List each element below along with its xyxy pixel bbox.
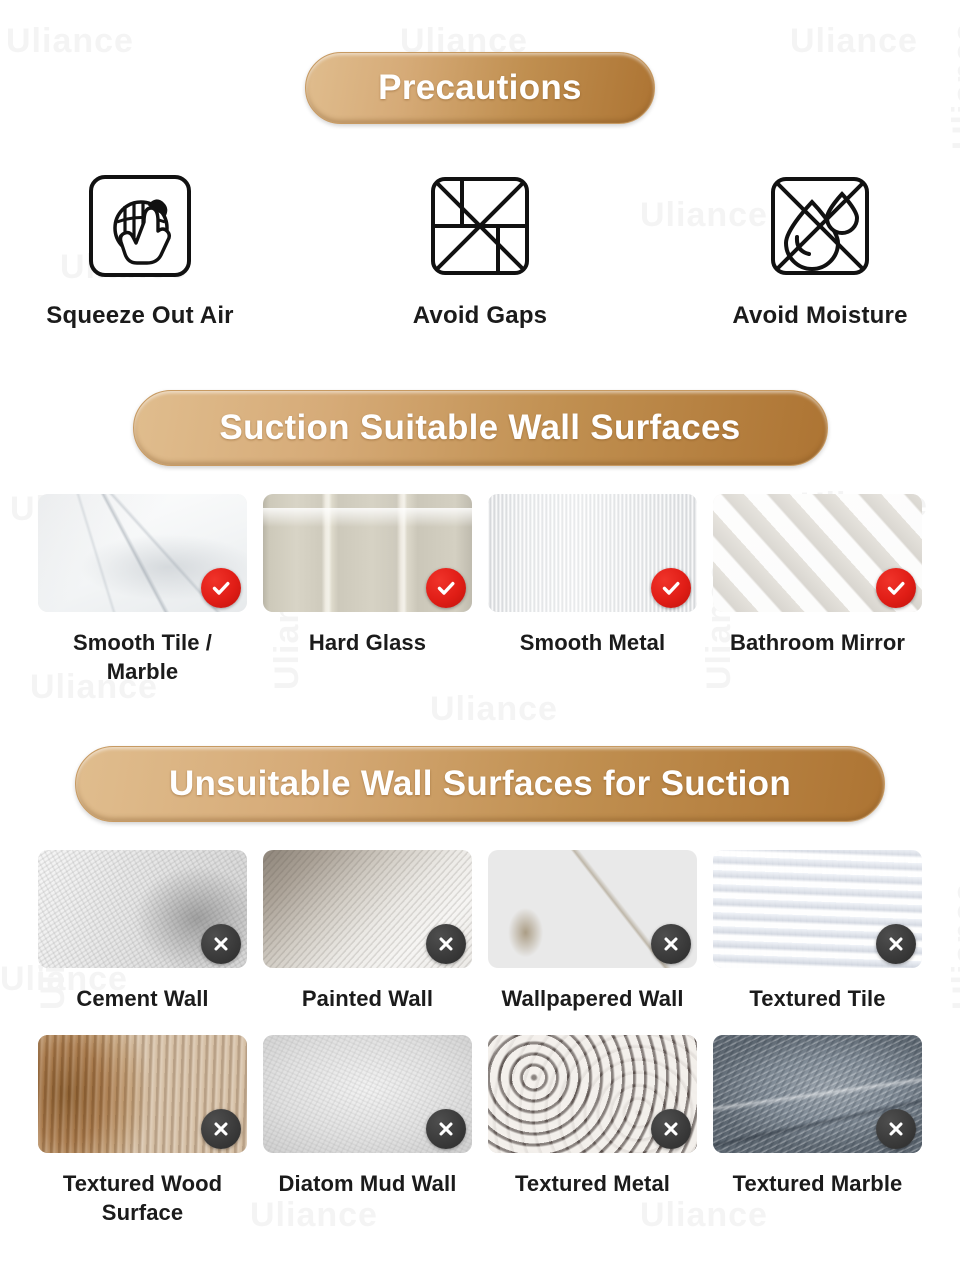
surface-thumbnail — [38, 850, 247, 968]
surface-label: Painted Wall — [302, 984, 433, 1013]
surface-thumbnail — [263, 850, 472, 968]
x-circle-icon — [426, 1109, 466, 1149]
precaution-label: Avoid Gaps — [413, 302, 547, 330]
surface-cell-textured-tile: Textured Tile — [713, 850, 922, 1013]
unsuitable-banner: Unsuitable Wall Surfaces for Suction — [75, 746, 885, 822]
precautions-icon-row: Squeeze Out Air Avoid Gaps — [0, 174, 960, 330]
surface-cell-diatom-mud-wall: Diatom Mud Wall — [263, 1035, 472, 1227]
surface-label: Cement Wall — [76, 984, 208, 1013]
surface-cell-smooth-metal: Smooth Metal — [488, 494, 697, 686]
surface-cell-textured-metal: Textured Metal — [488, 1035, 697, 1227]
infographic-page: Precautions Squeeze Out Air — [0, 0, 960, 1280]
surface-cell-textured-marble: Textured Marble — [713, 1035, 922, 1227]
surface-label: Smooth Tile / Marble — [38, 628, 247, 686]
precaution-label: Avoid Moisture — [732, 302, 907, 330]
surface-cell-hard-glass: Hard Glass — [263, 494, 472, 686]
suitable-banner: Suction Suitable Wall Surfaces — [133, 390, 828, 466]
x-circle-icon — [426, 924, 466, 964]
x-circle-icon — [201, 1109, 241, 1149]
x-circle-icon — [876, 1109, 916, 1149]
suitable-banner-wrap: Suction Suitable Wall Surfaces — [0, 390, 960, 466]
surface-cell-textured-wood-surface: Textured Wood Surface — [38, 1035, 247, 1227]
avoid-gaps-icon — [428, 174, 532, 278]
surface-thumbnail — [38, 1035, 247, 1153]
precautions-banner-wrap: Precautions — [0, 52, 960, 124]
surface-label: Hard Glass — [309, 628, 426, 657]
precaution-item-avoid-moisture: Avoid Moisture — [720, 174, 920, 330]
suitable-surfaces-section: Suction Suitable Wall Surfaces Smooth Ti… — [0, 390, 960, 686]
unsuitable-surfaces-section: Unsuitable Wall Surfaces for Suction Cem… — [0, 746, 960, 1227]
precaution-item-squeeze-out-air: Squeeze Out Air — [40, 174, 240, 330]
precautions-section: Precautions Squeeze Out Air — [0, 0, 960, 330]
x-circle-icon — [876, 924, 916, 964]
surface-thumbnail — [488, 494, 697, 612]
surface-thumbnail — [488, 850, 697, 968]
surface-label: Textured Tile — [749, 984, 885, 1013]
x-circle-icon — [201, 924, 241, 964]
squeeze-hand-icon — [88, 174, 192, 278]
x-circle-icon — [651, 1109, 691, 1149]
surface-thumbnail — [488, 1035, 697, 1153]
check-circle-icon — [426, 568, 466, 608]
no-moisture-icon — [768, 174, 872, 278]
surface-cell-wallpapered-wall: Wallpapered Wall — [488, 850, 697, 1013]
surface-thumbnail — [263, 494, 472, 612]
check-circle-icon — [201, 568, 241, 608]
surface-thumbnail — [713, 1035, 922, 1153]
surface-label: Bathroom Mirror — [730, 628, 905, 657]
surface-label: Diatom Mud Wall — [279, 1169, 457, 1198]
unsuitable-banner-wrap: Unsuitable Wall Surfaces for Suction — [0, 746, 960, 822]
suitable-grid: Smooth Tile / Marble Hard Glass — [0, 494, 960, 686]
surface-thumbnail — [713, 850, 922, 968]
surface-label: Textured Metal — [515, 1169, 670, 1198]
unsuitable-grid-row-1: Cement Wall Painted Wall W — [0, 850, 960, 1013]
check-circle-icon — [876, 568, 916, 608]
x-circle-icon — [651, 924, 691, 964]
surface-thumbnail — [38, 494, 247, 612]
check-circle-icon — [651, 568, 691, 608]
surface-thumbnail — [713, 494, 922, 612]
precaution-item-avoid-gaps: Avoid Gaps — [380, 174, 580, 330]
surface-cell-smooth-tile-marble: Smooth Tile / Marble — [38, 494, 247, 686]
surface-cell-cement-wall: Cement Wall — [38, 850, 247, 1013]
surface-cell-painted-wall: Painted Wall — [263, 850, 472, 1013]
precautions-banner: Precautions — [305, 52, 655, 124]
surface-cell-bathroom-mirror: Bathroom Mirror — [713, 494, 922, 686]
unsuitable-grid-row-2: Textured Wood Surface Diatom Mud Wall — [0, 1035, 960, 1227]
surface-thumbnail — [263, 1035, 472, 1153]
precaution-label: Squeeze Out Air — [46, 302, 233, 330]
surface-label: Textured Marble — [733, 1169, 903, 1198]
surface-label: Textured Wood Surface — [38, 1169, 247, 1227]
surface-label: Smooth Metal — [520, 628, 665, 657]
surface-label: Wallpapered Wall — [501, 984, 683, 1013]
